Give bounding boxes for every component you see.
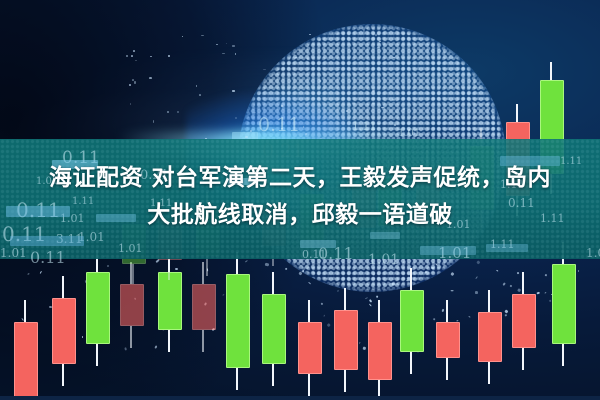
overlay-data-bar <box>10 236 84 246</box>
overlay-number: 1.01 <box>0 246 27 260</box>
overlay-data-bar <box>420 246 476 255</box>
headline-line-2: 大批航线取消，邱毅一语道破 <box>0 197 600 234</box>
overlay-number: 0.11 <box>30 248 66 267</box>
overlay-number: 3.11 <box>56 232 83 246</box>
overlay-number: 0.11 <box>318 244 354 263</box>
overlay-data-bar <box>486 244 528 252</box>
headline-line-1: 海证配资 对台军演第二天，王毅发声促统，岛内 <box>0 160 600 197</box>
page-title: 海证配资 对台军演第二天，王毅发声促统，岛内 大批航线取消，邱毅一语道破 <box>0 160 600 234</box>
bottom-edge-rule <box>0 396 600 400</box>
overlay-number: 1.11 <box>490 238 515 251</box>
overlay-number: 1.01 <box>586 246 600 260</box>
overlay-number: 1.01 <box>438 244 471 262</box>
overlay-data-bar <box>300 240 336 248</box>
overlay-number: 1.01 <box>368 252 399 268</box>
overlay-number: 0.11 <box>302 248 327 261</box>
news-banner-image: 0.110.211.111.01 0.111.010.110.111.011.1… <box>0 0 600 400</box>
overlay-number: 1.01 <box>118 242 143 255</box>
